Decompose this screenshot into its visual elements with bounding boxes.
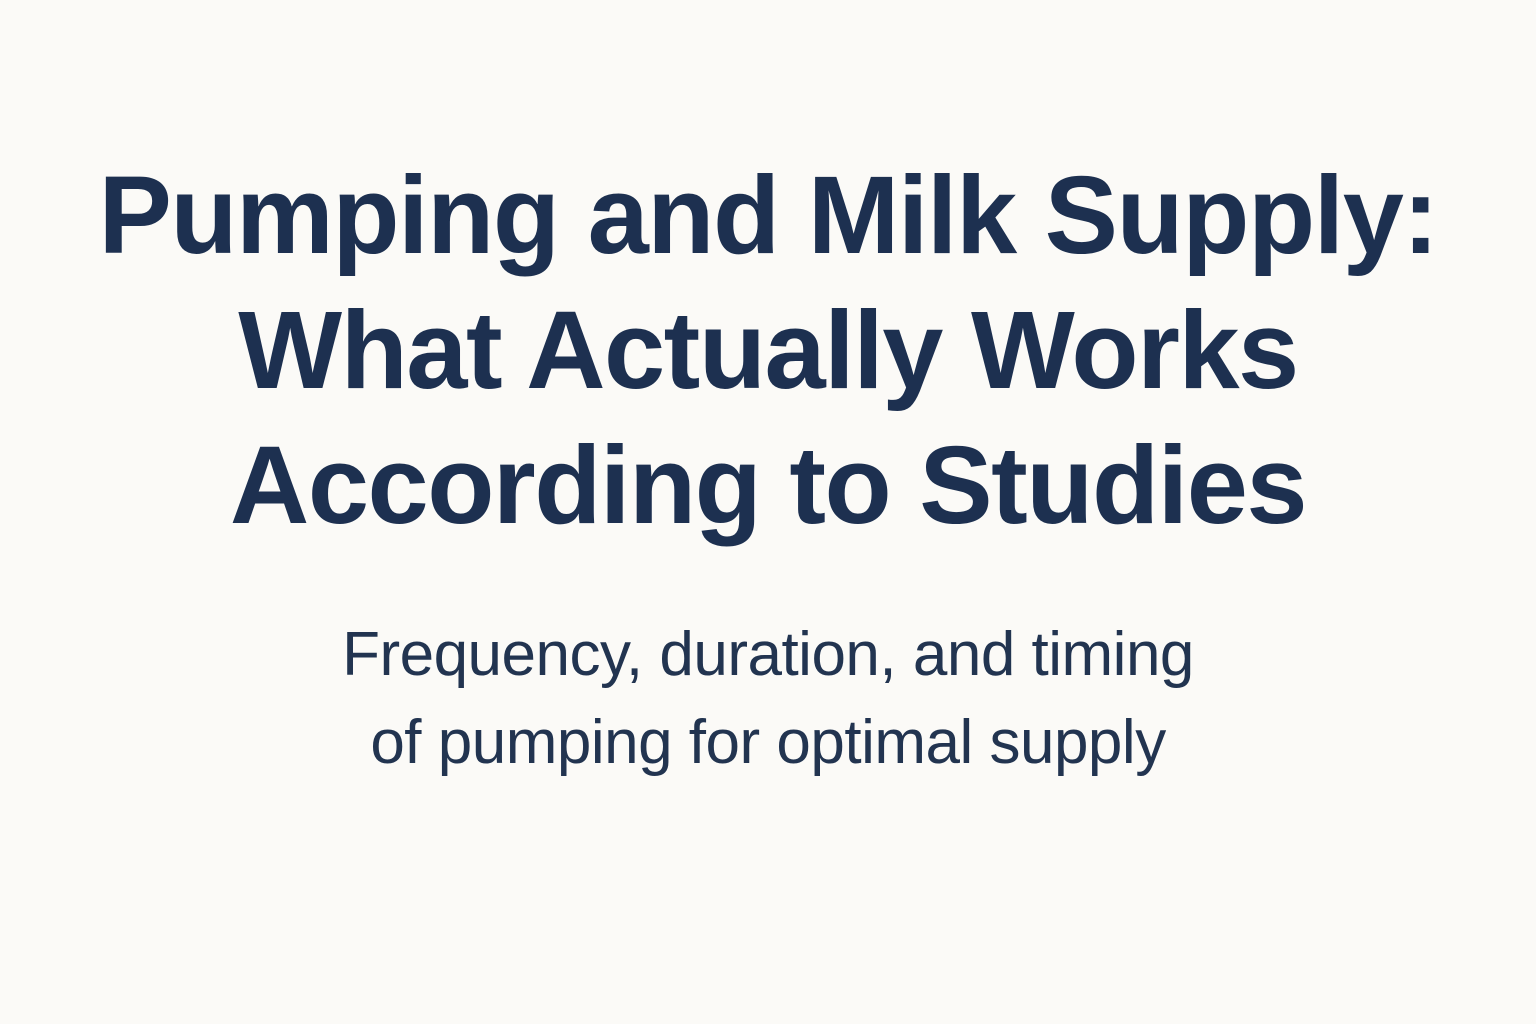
page-title-line-1: Pumping and Milk Supply:: [99, 148, 1438, 283]
page-subtitle-line-2: of pumping for optimal supply: [342, 699, 1194, 787]
page-subtitle-line-1: Frequency, duration, and timing: [342, 611, 1194, 699]
page-subtitle: Frequency, duration, and timing of pumpi…: [342, 611, 1194, 787]
page-title-line-3: According to Studies: [99, 418, 1438, 553]
title-block: Pumping and Milk Supply: What Actually W…: [0, 148, 1536, 787]
page-title-line-2: What Actually Works: [99, 283, 1438, 418]
title-slide: Pumping and Milk Supply: What Actually W…: [0, 0, 1536, 1024]
page-title: Pumping and Milk Supply: What Actually W…: [99, 148, 1438, 553]
